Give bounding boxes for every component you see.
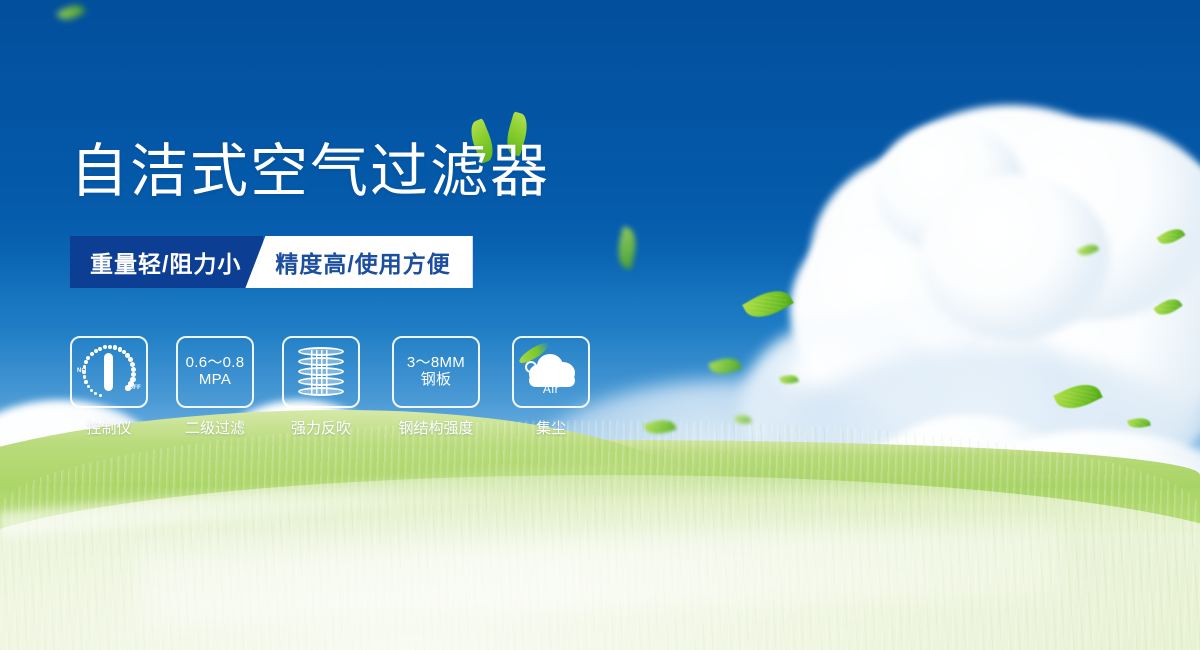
badge-group: 重量轻/阻力小 精度高/使用方便 [70,236,473,288]
gauge-tick-dot-icon [90,389,93,392]
gauge-tick-dot-icon [103,345,107,349]
feature-air-box: Air [512,336,590,408]
feature-caption: 二级过滤 [185,417,245,438]
feature-controller[interactable]: NO OFF 控制仪 [70,336,148,438]
feature-caption: 控制仪 [86,417,131,438]
hero-banner: 自洁式空气过滤器 重量轻/阻力小 精度高/使用方便 NO OFF 控制仪 0.6… [0,0,1200,650]
gauge-tick-dot-icon [90,352,94,356]
gauge-tick-dot-icon [87,385,90,388]
gauge-tick-dot-icon [84,380,87,383]
pressure-value-line1: 0.6～0.8 [186,355,245,372]
badge-weight-resistance: 重量轻/阻力小 [70,236,263,288]
pressure-value-line2: MPA [199,372,231,389]
page-title: 自洁式空气过滤器 [70,143,550,201]
feature-icon-row: NO OFF 控制仪 0.6～0.8 MPA 二级过滤 [70,336,590,438]
gauge-tick-dot-icon [82,370,86,374]
filter-ring-icon [298,367,344,376]
feature-controller-box: NO OFF [70,336,148,408]
gauge-tick-dot-icon [83,375,87,379]
steel-value-line1: 3～8MM [407,355,465,372]
air-label: Air [523,382,579,396]
gauge-tick-dot-icon [108,345,112,349]
gauge-tick-dot-icon [125,385,131,391]
feature-caption: 强力反吹 [291,417,351,438]
gauge-tick-dot-icon [131,367,136,372]
gauge-tick-dot-icon [98,347,102,351]
filter-ring-icon [298,347,344,356]
feature-strong-blowback[interactable]: 强力反吹 [282,336,360,438]
filter-ring-icon [298,357,344,366]
air-cloud-icon: Air [523,350,579,394]
gauge-tick-dot-icon [113,345,118,350]
gauge-tick-dot-icon [86,356,90,360]
gauge-tick-dot-icon [94,392,97,395]
gauge-tick-dot-icon [94,349,98,353]
gauge-tick-dot-icon [84,360,88,364]
gauge-icon: NO OFF [78,343,140,401]
badge-precision-ease: 精度高/使用方便 [245,236,472,288]
feature-caption: 钢结构强度 [398,417,473,438]
filter-stack-icon [298,347,344,397]
feature-secondary-filtration[interactable]: 0.6～0.8 MPA 二级过滤 [176,336,254,438]
filter-ring-icon [298,387,344,396]
feature-dust-collection[interactable]: Air 集尘 [512,336,590,438]
filter-ring-icon [298,377,344,386]
feature-blowback-box [282,336,360,408]
feature-steel-box: 3～8MM 钢板 [392,336,480,408]
feature-pressure-box: 0.6～0.8 MPA [176,336,254,408]
steel-value-line2: 钢板 [421,372,452,389]
cloud-shape [920,175,1110,340]
feature-caption: 集尘 [536,417,566,438]
gauge-needle-icon [104,353,113,391]
gauge-tick-dot-icon [99,394,102,397]
feature-steel-strength[interactable]: 3～8MM 钢板 钢结构强度 [388,336,484,438]
